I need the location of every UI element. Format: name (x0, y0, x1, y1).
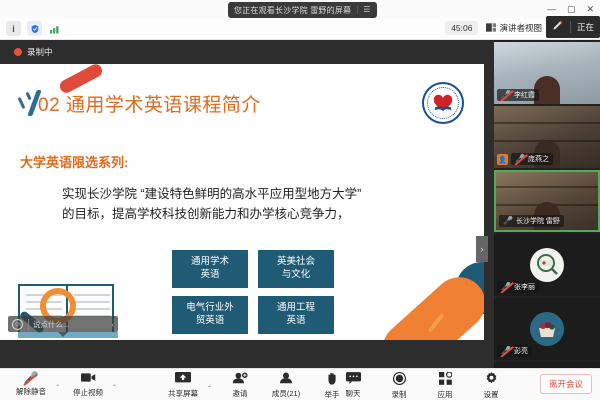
toolbar-item-label: 解除静音 (16, 386, 46, 397)
toolbar-item-label: 成员(21) (272, 388, 300, 399)
toolbar-item-label: 邀请 (233, 388, 248, 399)
slide-body-line-2: 的目标，提高学校科技创新能力和办学核心竞争力， (62, 204, 462, 224)
recording-dot-icon (14, 48, 22, 56)
speaker-view-button[interactable]: 演讲者视图 (486, 22, 542, 34)
slide-title: 02 通用学术英语课程简介 (38, 90, 261, 117)
annotate-label: 正在 (577, 21, 594, 33)
participant-tile-active[interactable]: 🎤 长沙学院 雷野 (494, 170, 600, 232)
minimize-button[interactable]: — (547, 5, 556, 14)
participant-nametag: 🎤 李红霞 (497, 89, 539, 101)
emoji-icon[interactable]: ☺ (12, 319, 23, 330)
share-screen-icon (175, 372, 191, 387)
emblem-inner-ring (427, 87, 459, 119)
host-badge-icon: 👤 (497, 154, 508, 165)
meeting-timer: 45:06 (445, 21, 478, 35)
participant-name: 庞燕之 (528, 154, 549, 164)
participant-name: 彭亮 (514, 346, 528, 356)
topic-box-label: 通用学术 英语 (191, 256, 229, 281)
signal-bars-icon[interactable] (48, 21, 63, 36)
emblem-heart-book (432, 93, 454, 113)
participant-name: 李红霞 (514, 90, 535, 100)
participant-name: 张李丽 (514, 282, 535, 292)
send-icon[interactable]: ‹ (112, 320, 115, 329)
slide-body-line-1: 实现长沙学院 “建设特色鲜明的高水平应用型地方大学” (62, 184, 462, 204)
next-panel-arrow[interactable]: › (476, 236, 488, 262)
viewing-banner-text: 您正在观看长沙学院 雷野的屏幕 (234, 5, 351, 16)
mic-muted-icon: 🎤 (24, 372, 39, 385)
toolbar-item-label: 共享屏幕 (168, 388, 198, 399)
participant-tile[interactable]: 👤 🎤 庞燕之 (494, 106, 600, 168)
participant-nametag: 🎤 长沙学院 雷野 (499, 215, 564, 227)
topic-box-label: 英美社会 与文化 (277, 256, 315, 281)
toolbar-settings-button[interactable]: 设置 (468, 372, 514, 400)
mic-muted-icon: 🎤 (515, 155, 525, 163)
slide-subtitle: 大学英语限选系列: (20, 152, 128, 171)
topic-box-label: 电气行业外 贸英语 (186, 302, 234, 327)
toolbar-item-label: 聊天 (346, 388, 361, 399)
book-base (18, 332, 118, 338)
topic-box-label: 通用工程 英语 (277, 302, 315, 327)
toolbar-item-label: 设置 (484, 389, 499, 400)
close-button[interactable]: ✕ (586, 5, 594, 14)
mic-muted-icon: 🎤 (501, 91, 511, 99)
participant-tile[interactable]: 🎤 李红霞 (494, 42, 600, 104)
slide-body-text: 实现长沙学院 “建设特色鲜明的高水平应用型地方大学” 的目标，提高学校科技创新能… (62, 184, 462, 225)
participant-nametag: 🎤 彭亮 (497, 345, 532, 357)
mic-on-icon: 🎤 (503, 217, 513, 225)
leave-meeting-button[interactable]: 离开会议 (540, 374, 592, 394)
toolbar-participants-button[interactable]: 成员(21) (263, 372, 309, 399)
toolbar-stop-video-button[interactable]: 停止视频 (65, 372, 111, 398)
chat-bubble-icon (346, 372, 361, 387)
participant-tile[interactable]: 🎤 张李丽 (494, 234, 600, 296)
pen-annotate-icon[interactable] (552, 18, 564, 36)
presentation-slide: 02 通用学术英语课程简介 大学英语限选系列: 实现长沙学院 “建设特色鲜明的高… (0, 64, 484, 340)
participant-name: 长沙学院 雷野 (516, 216, 560, 226)
speaker-view-label: 演讲者视图 (499, 22, 542, 34)
toolbar-left-group: 🎤 解除静音 ⌃ 停止视频 ⌃ (8, 372, 122, 398)
university-emblem-icon (422, 82, 464, 124)
shared-screen-stage: 录制中 02 通用学术英语课程简介 大学英语限选系列: 实现长沙学院 “建设特色… (0, 40, 494, 368)
layout-icon (486, 23, 496, 34)
chat-input-placeholder[interactable]: 说点什么... (28, 319, 107, 330)
topic-box: 英美社会 与文化 (258, 250, 334, 288)
toolbar-item-label: 录制 (392, 389, 407, 400)
fruit-bowl-avatar (530, 312, 564, 346)
video-options-caret-icon[interactable]: ⌃ (112, 380, 117, 391)
participants-icon (278, 372, 294, 387)
toolbar-share-screen-button[interactable]: 共享屏幕 (160, 372, 206, 399)
annotate-divider (570, 21, 571, 33)
recording-indicator: 录制中 (0, 40, 494, 64)
slide-decoration-tick-1 (18, 97, 26, 109)
hamburger-icon[interactable]: ☰ (357, 6, 370, 14)
mic-muted-icon: 🎤 (501, 347, 511, 355)
invite-person-icon (232, 372, 248, 387)
apps-grid-icon (439, 372, 452, 388)
topic-box: 通用学术 英语 (172, 250, 248, 288)
toolbar-item-label: 停止视频 (73, 387, 103, 398)
meeting-toolbar: 🎤 解除静音 ⌃ 停止视频 ⌃ 共享屏幕 ⌃ (0, 368, 600, 400)
chat-overlay-caret (58, 332, 68, 337)
toolbar-apps-button[interactable]: 应用 (422, 372, 468, 400)
recording-label: 录制中 (27, 46, 53, 58)
video-camera-icon (81, 372, 96, 386)
chat-input-overlay[interactable]: ☺ 说点什么... ‹ (8, 316, 118, 332)
share-options-caret-icon[interactable]: ⌃ (207, 381, 212, 392)
record-circle-icon (393, 372, 406, 388)
toolbar-middle-group: 共享屏幕 ⌃ 邀请 成员(21) 举手 (160, 372, 355, 400)
topic-box: 电气行业外 贸英语 (172, 296, 248, 334)
gear-icon (485, 372, 498, 388)
toolbar-record-button[interactable]: 录制 (376, 372, 422, 400)
toolbar-item-label: 应用 (438, 389, 453, 400)
book-magnifier-avatar (530, 248, 564, 282)
subbar-right-controls: 45:06 演讲者视图 (445, 21, 542, 35)
mic-muted-icon: 🎤 (501, 283, 511, 291)
participant-nametag: 🎤 张李丽 (497, 281, 539, 293)
toolbar-right-group: 聊天 录制 应用 设置 (330, 372, 514, 400)
participant-nametag: 🎤 庞燕之 (511, 153, 553, 165)
topic-box-grid: 通用学术 英语 英美社会 与文化 电气行业外 贸英语 通用工程 英语 (172, 250, 334, 334)
annotation-floating-bar: 正在 (546, 16, 600, 38)
toolbar-unmute-button[interactable]: 🎤 解除静音 (8, 372, 54, 397)
audio-options-caret-icon[interactable]: ⌃ (55, 380, 60, 391)
slide-decoration-tick-2 (25, 92, 31, 101)
participant-rail: 🎤 李红霞 👤 🎤 庞燕之 🎤 长沙学院 雷野 (494, 40, 600, 368)
toolbar-invite-button[interactable]: 邀请 (217, 372, 263, 399)
maximize-button[interactable]: ▢ (567, 5, 576, 14)
slide-decoration-orange-dot (438, 332, 450, 340)
viewing-screen-banner: 您正在观看长沙学院 雷野的屏幕 ☰ (228, 2, 377, 18)
shield-icon[interactable] (27, 21, 42, 36)
participant-tile[interactable]: 🎤 彭亮 (494, 298, 600, 360)
toolbar-chat-button[interactable]: 聊天 (330, 372, 376, 399)
meeting-window: — ▢ ✕ 您正在观看长沙学院 雷野的屏幕 ☰ i 45:06 演讲者视图 (0, 0, 600, 400)
subbar-status-icons: i (6, 21, 63, 36)
topic-box: 通用工程 英语 (258, 296, 334, 334)
meeting-subbar: i 45:06 演讲者视图 (0, 18, 600, 40)
info-icon[interactable]: i (6, 21, 21, 36)
